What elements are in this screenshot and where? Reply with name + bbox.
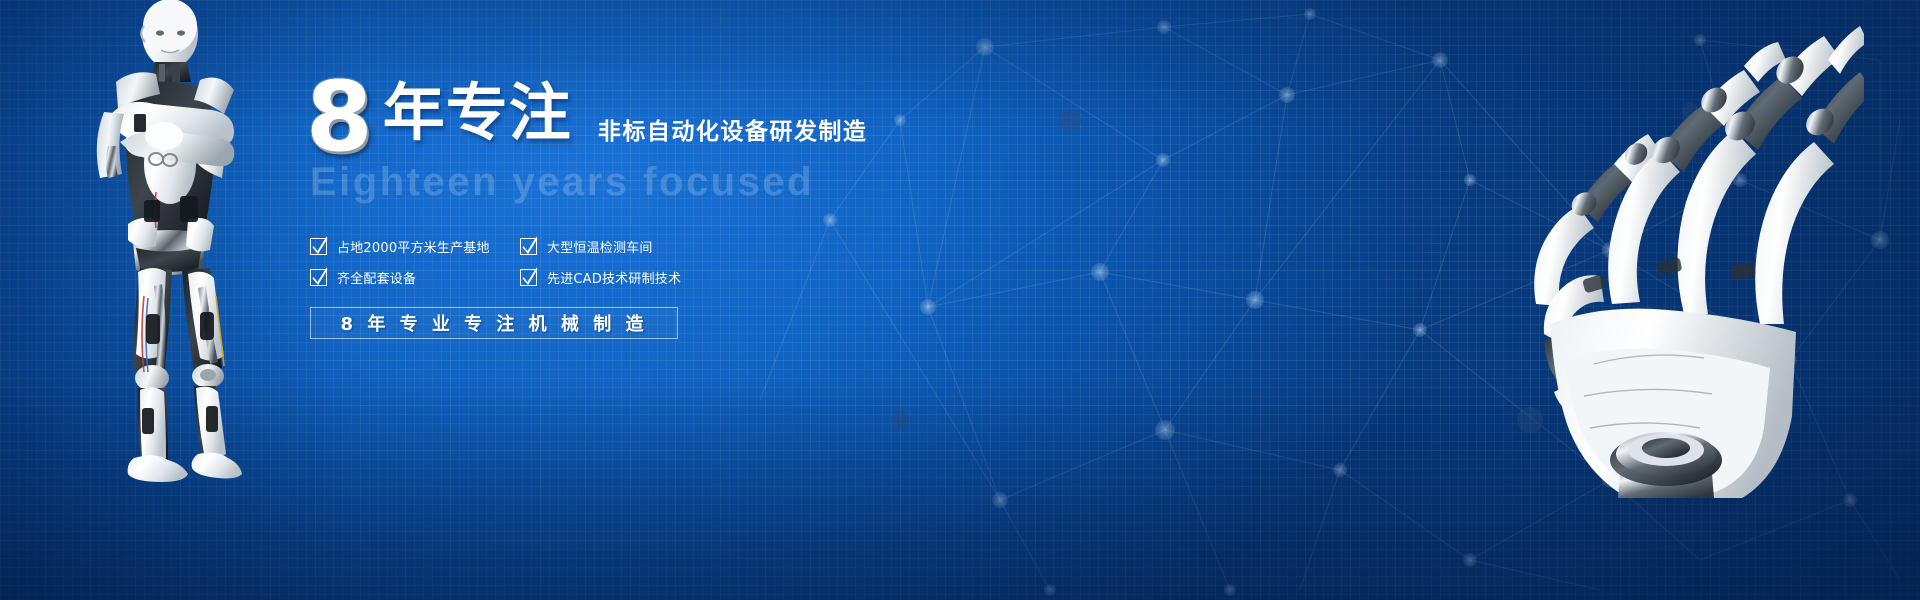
check-icon bbox=[520, 269, 537, 286]
feature-list: 占地2000平方米生产基地 大型恒温检测车间 齐全配套设备 bbox=[310, 231, 750, 293]
headline-row: 8 年专注 非标自动化设备研发制造 bbox=[306, 78, 1126, 156]
headline-subtitle: 非标自动化设备研发制造 bbox=[598, 112, 868, 146]
feature-item: 齐全配套设备 bbox=[310, 262, 520, 293]
feature-item: 大型恒温检测车间 bbox=[520, 231, 740, 262]
check-icon bbox=[310, 269, 327, 286]
feature-label: 占地2000平方米生产基地 bbox=[337, 237, 490, 256]
ghost-english-text: Eighteen years focused bbox=[310, 160, 1126, 205]
check-icon bbox=[520, 238, 537, 255]
slogan-text: 8 年 专 业 专 注 机 械 制 造 bbox=[341, 310, 648, 336]
years-number: 8 bbox=[306, 77, 371, 158]
feature-label: 先进CAD技术研制技术 bbox=[547, 268, 681, 287]
check-icon bbox=[310, 238, 327, 255]
slogan-box: 8 年 专 业 专 注 机 械 制 造 bbox=[310, 307, 678, 339]
promo-banner: 8 年专注 非标自动化设备研发制造 Eighteen years focused… bbox=[0, 0, 1920, 600]
feature-label: 大型恒温检测车间 bbox=[547, 237, 653, 256]
robotic-hand-figure bbox=[1524, 4, 1864, 498]
feature-item: 占地2000平方米生产基地 bbox=[310, 231, 520, 262]
feature-item: 先进CAD技术研制技术 bbox=[520, 262, 740, 293]
feature-label: 齐全配套设备 bbox=[337, 268, 416, 287]
headline-chinese: 年专注 bbox=[383, 62, 572, 152]
humanoid-robot-figure bbox=[48, 0, 278, 486]
banner-content: 8 年专注 非标自动化设备研发制造 Eighteen years focused… bbox=[306, 78, 1126, 339]
